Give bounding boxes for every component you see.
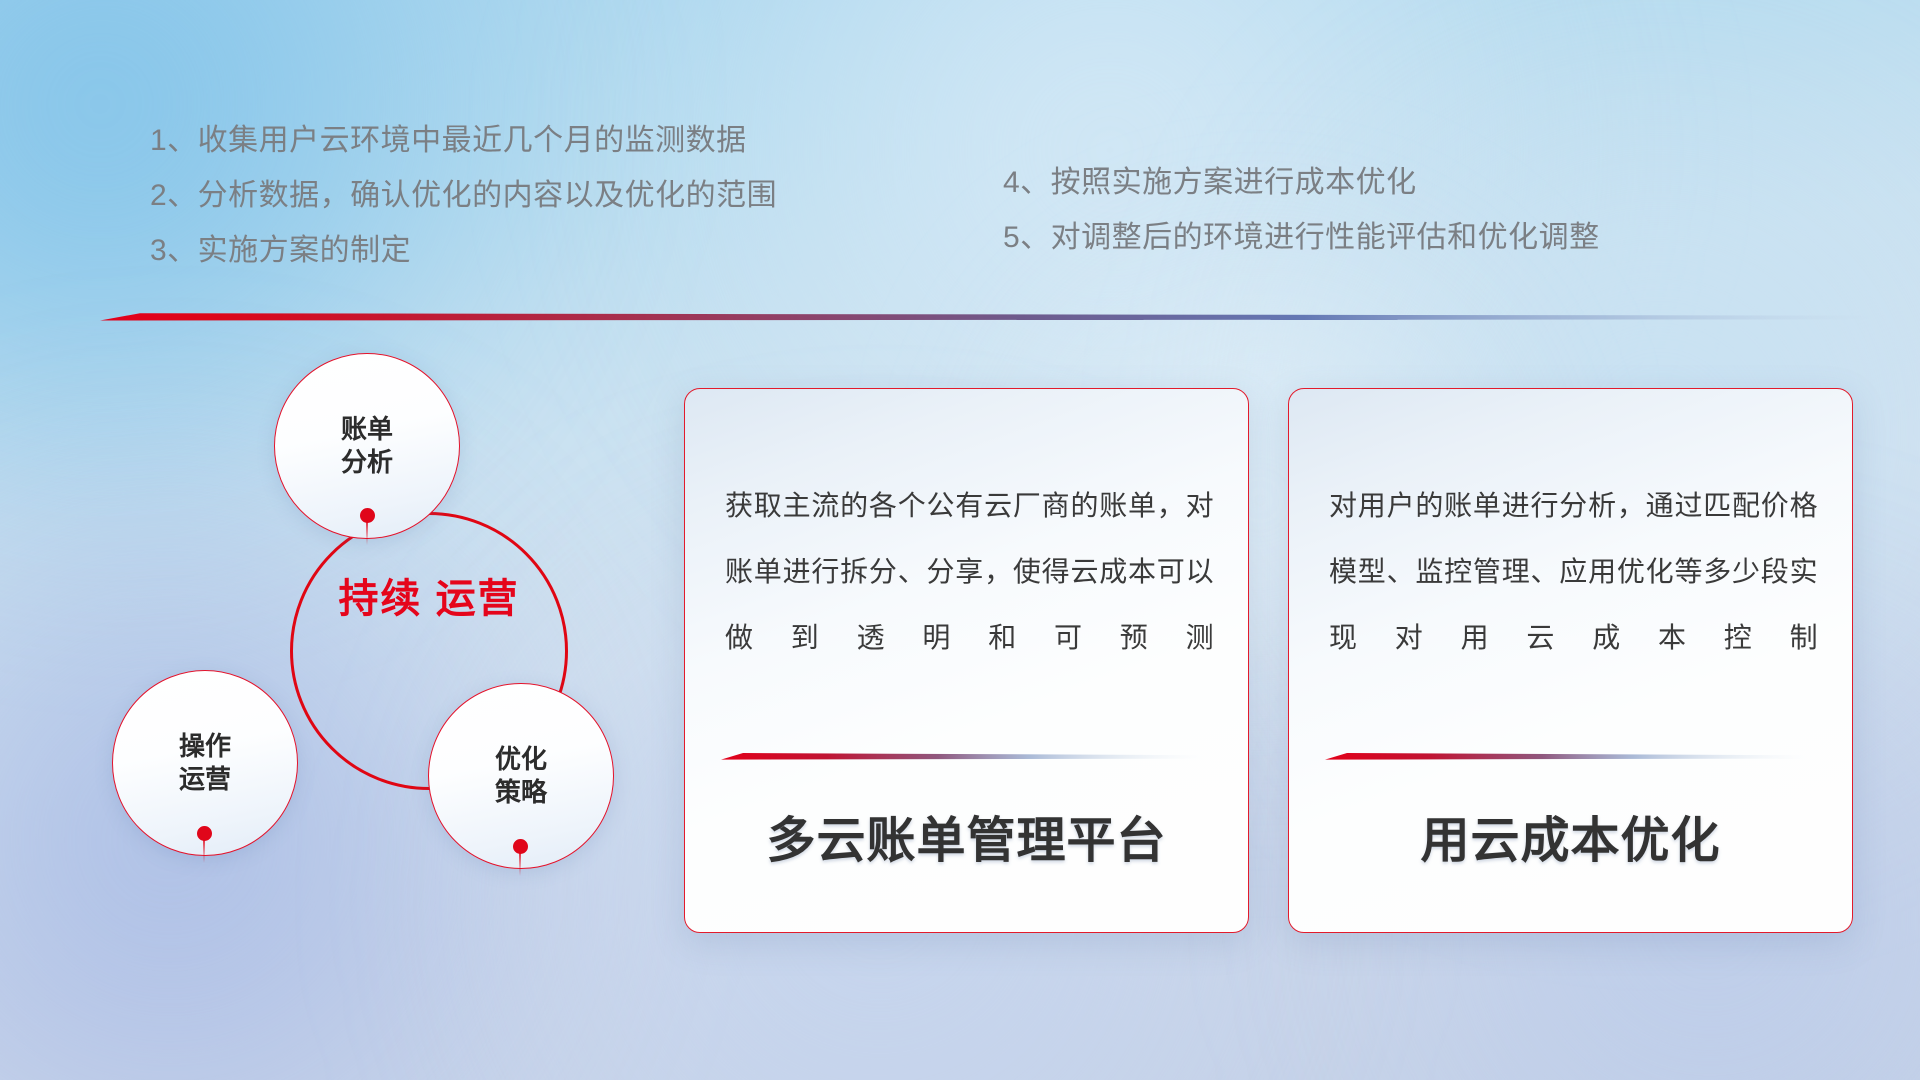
bubble-operation-line1: 操作 xyxy=(179,730,231,763)
section-divider xyxy=(100,310,1870,321)
bubble-bill-analysis-line2: 分析 xyxy=(341,446,393,479)
step-item-2: 2、分析数据，确认优化的内容以及优化的范围 xyxy=(150,168,777,223)
card-2-title: 用云成本优化 xyxy=(1289,801,1852,872)
card-2-divider xyxy=(1325,751,1807,760)
steps-left-column: 1、收集用户云环境中最近几个月的监测数据 2、分析数据，确认优化的内容以及优化的… xyxy=(150,113,777,278)
node-dot-bottom-left xyxy=(197,826,212,841)
continuous-operation-diagram: 持续 运营 账单 分析 操作 运营 优化 策略 xyxy=(98,345,658,965)
slide-canvas: 1、收集用户云环境中最近几个月的监测数据 2、分析数据，确认优化的内容以及优化的… xyxy=(0,0,1920,1080)
card-2-body-text: 对用户的账单进行分析，通过匹配价格模型、监控管理、应用优化等多少段实现对用云成本… xyxy=(1329,473,1818,671)
node-tail-bottom-left xyxy=(203,839,205,863)
steps-right-column: 4、按照实施方案进行成本优化 5、对调整后的环境进行性能评估和优化调整 xyxy=(1003,155,1600,265)
bubble-optimize-policy-line1: 优化 xyxy=(495,743,547,776)
step-item-1: 1、收集用户云环境中最近几个月的监测数据 xyxy=(150,113,777,168)
card-cloud-cost-optimization[interactable]: 对用户的账单进行分析，通过匹配价格模型、监控管理、应用优化等多少段实现对用云成本… xyxy=(1288,388,1853,933)
center-label-line1: 持续 xyxy=(338,577,422,621)
card-1-divider xyxy=(721,751,1203,760)
step-item-5: 5、对调整后的环境进行性能评估和优化调整 xyxy=(1003,210,1600,265)
node-tail-top xyxy=(366,521,368,545)
card-1-body-text: 获取主流的各个公有云厂商的账单，对账单进行拆分、分享，使得云成本可以做到透明和可… xyxy=(725,473,1214,671)
step-item-3: 3、实施方案的制定 xyxy=(150,223,777,278)
node-dot-top xyxy=(360,508,375,523)
center-label-line2: 运营 xyxy=(436,577,520,621)
step-item-4: 4、按照实施方案进行成本优化 xyxy=(1003,155,1600,210)
bubble-optimize-policy-line2: 策略 xyxy=(495,776,547,809)
node-tail-bottom-right xyxy=(519,852,521,876)
diagram-center-label: 持续 运营 xyxy=(290,575,568,623)
bubble-operation-line2: 运营 xyxy=(179,763,231,796)
bubble-bill-analysis-line1: 账单 xyxy=(341,413,393,446)
card-multi-cloud-bill-platform[interactable]: 获取主流的各个公有云厂商的账单，对账单进行拆分、分享，使得云成本可以做到透明和可… xyxy=(684,388,1249,933)
card-1-title: 多云账单管理平台 xyxy=(685,801,1248,872)
node-dot-bottom-right xyxy=(513,839,528,854)
